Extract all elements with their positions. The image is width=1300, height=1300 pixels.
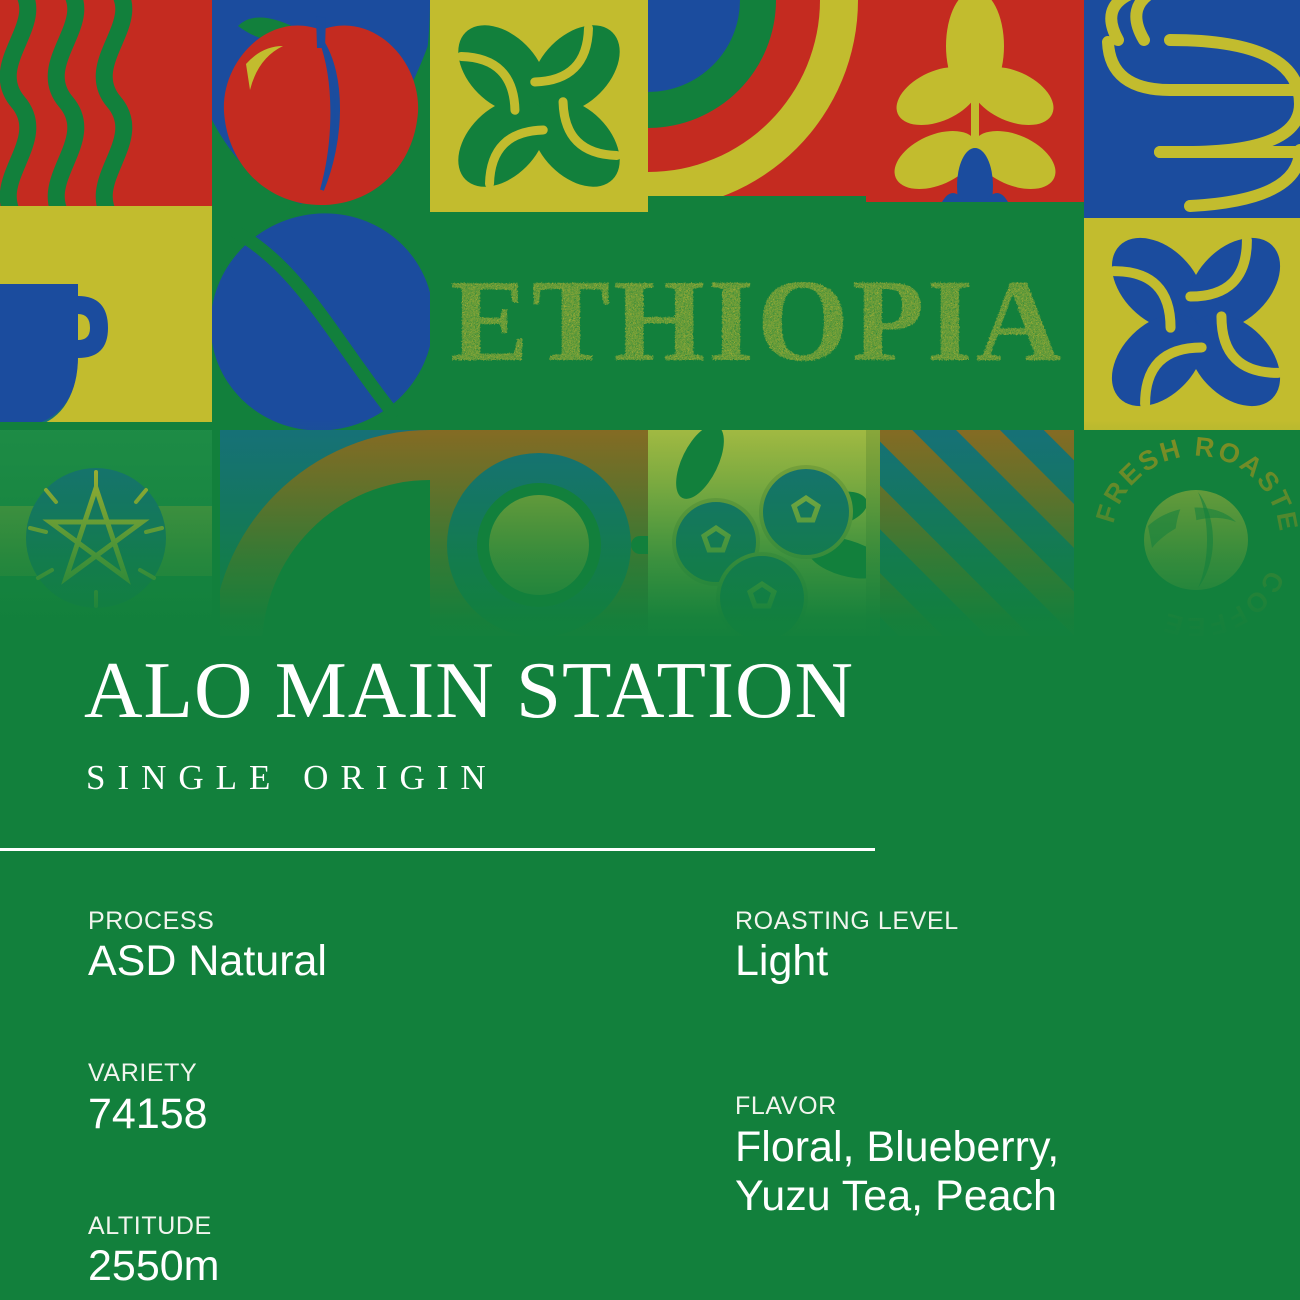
spec-variety-value: 74158 [88,1090,688,1139]
coffee-bean-large-tile [178,180,467,464]
pour-over-swirl-tile [1084,0,1300,212]
spec-roasting-level: ROASTING LEVEL Light [735,906,1275,986]
bean-rosette-blue-tile [1084,212,1300,430]
label-info-block: ALO MAIN STATION SINGLE ORIGIN PROCESS A… [0,636,1300,1300]
origin-banner: ETHIOPIA [430,212,1084,430]
ethiopia-star-tile [0,430,212,640]
four-bean-rosette-tile [430,0,648,212]
spec-flavor: FLAVOR Floral, Blueberry, Yuzu Tea, Peac… [735,1091,1275,1220]
spec-roasting-level-label: ROASTING LEVEL [735,906,1275,937]
decorative-pattern-mosaic: FRESH ROASTED COFFEE [0,0,1300,640]
spec-altitude-label: ALTITUDE [88,1211,688,1242]
steam-waves-tile [0,0,212,222]
spec-process: PROCESS ASD Natural [88,906,688,986]
section-divider [0,848,875,851]
specs-column-right: ROASTING LEVEL Light FLAVOR Floral, Blue… [735,906,1275,1231]
blueberries-tile [648,418,889,640]
coffee-label: FRESH ROASTED COFFEE [0,0,1300,1300]
diagonal-stripes-tile [866,430,1084,640]
peach-fruit-tile [212,0,430,212]
spec-process-value: ASD Natural [88,937,688,986]
coffee-cup-side-tile [0,212,212,430]
spec-roasting-level-value: Light [735,937,1275,986]
specs-column-left: PROCESS ASD Natural VARIETY 74158 ALTITU… [88,906,688,1300]
page-subtitle: SINGLE ORIGIN [86,758,498,798]
spec-variety-label: VARIETY [88,1058,688,1089]
spec-flavor-label: FLAVOR [735,1091,1275,1122]
origin-banner-text: ETHIOPIA [450,255,1064,386]
spec-altitude: ALTITUDE 2550m [88,1211,688,1291]
spec-flavor-value: Floral, Blueberry, Yuzu Tea, Peach [735,1123,1275,1221]
page-title: ALO MAIN STATION [84,650,854,731]
spec-variety: VARIETY 74158 [88,1058,688,1138]
spec-process-label: PROCESS [88,906,688,937]
spec-altitude-value: 2550m [88,1242,688,1291]
wheat-branch-tile [866,0,1084,224]
